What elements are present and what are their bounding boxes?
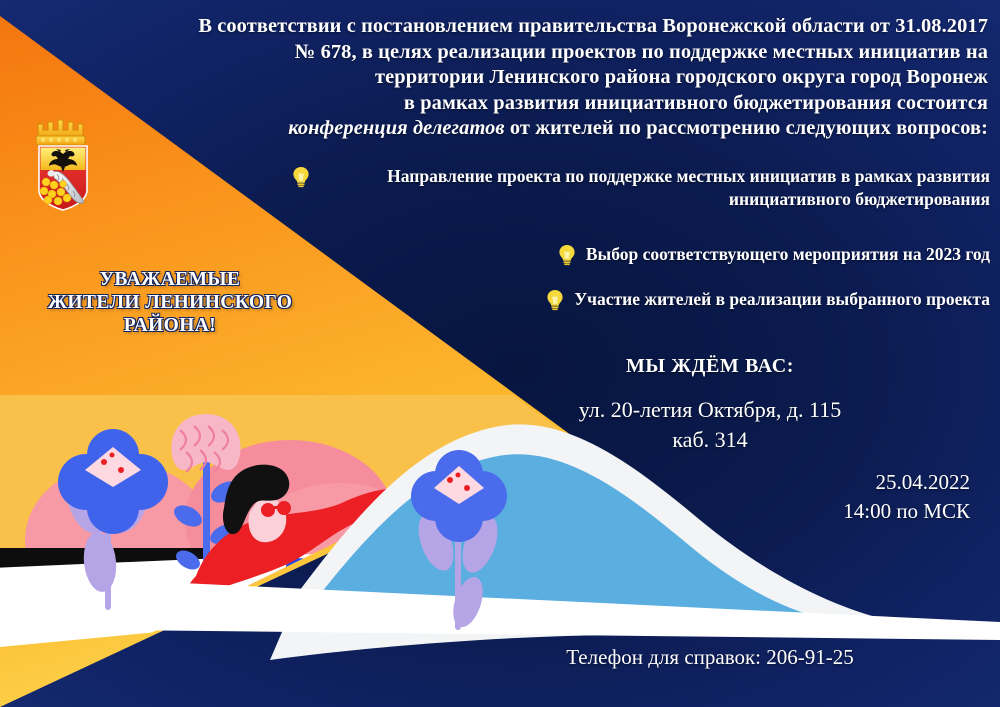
conference-emphasis: конференция делегатов bbox=[288, 117, 504, 139]
bullet-text-3: Участие жителей в реализации выбранного … bbox=[574, 288, 990, 311]
bullet-item-3: Участие жителей в реализации выбранного … bbox=[250, 288, 990, 311]
lightbulb-icon bbox=[557, 244, 577, 266]
header-paragraph: В соответствии с постановлением правител… bbox=[80, 14, 988, 142]
meeting-address: ул. 20-летия Октября, д. 115 каб. 314 bbox=[430, 395, 990, 455]
header-line-5: конференция делегатов от жителей по расс… bbox=[80, 116, 988, 142]
lightbulb-icon bbox=[545, 289, 565, 311]
bullet-text-2: Выбор соответствующего мероприятия на 20… bbox=[586, 243, 990, 266]
poster-root: В соответствии с постановлением правител… bbox=[0, 0, 1000, 707]
meeting-title: МЫ ЖДЁМ ВАС: bbox=[430, 355, 990, 378]
header-line-2: № 678, в целях реализации проектов по по… bbox=[80, 40, 988, 66]
header-line-5-rest: от жителей по рассмотрению следующих воп… bbox=[505, 117, 988, 139]
bullet-list: Направление проекта по поддержке местных… bbox=[250, 165, 990, 333]
bullet-item-1: Направление проекта по поддержке местных… bbox=[250, 165, 990, 211]
meeting-time: 14:00 по МСК bbox=[430, 497, 970, 526]
meeting-datetime: 25.04.2022 14:00 по МСК bbox=[430, 468, 970, 526]
bullet-text-1: Направление проекта по поддержке местных… bbox=[320, 165, 990, 211]
emblem-crown bbox=[36, 120, 85, 145]
header-line-4: в рамках развития инициативного бюджетир… bbox=[80, 91, 988, 117]
greeting-line-1: УВАЖАЕМЫЕ bbox=[25, 268, 315, 291]
bullet-item-2: Выбор соответствующего мероприятия на 20… bbox=[250, 243, 990, 266]
address-line-2: каб. 314 bbox=[430, 425, 990, 455]
header-line-3: территории Ленинского района городского … bbox=[80, 65, 988, 91]
lightbulb-icon bbox=[291, 166, 311, 188]
greeting-line-3: РАЙОНА! bbox=[25, 314, 315, 337]
address-line-1: ул. 20-летия Октября, д. 115 bbox=[430, 395, 990, 425]
greeting-line-2: ЖИТЕЛИ ЛЕНИНСКОГО bbox=[25, 291, 315, 314]
residents-greeting: УВАЖАЕМЫЕ ЖИТЕЛИ ЛЕНИНСКОГО РАЙОНА! bbox=[25, 268, 315, 337]
meeting-date: 25.04.2022 bbox=[430, 468, 970, 497]
header-line-1: В соответствии с постановлением правител… bbox=[80, 14, 988, 40]
contact-phone: Телефон для справок: 206-91-25 bbox=[430, 645, 990, 670]
